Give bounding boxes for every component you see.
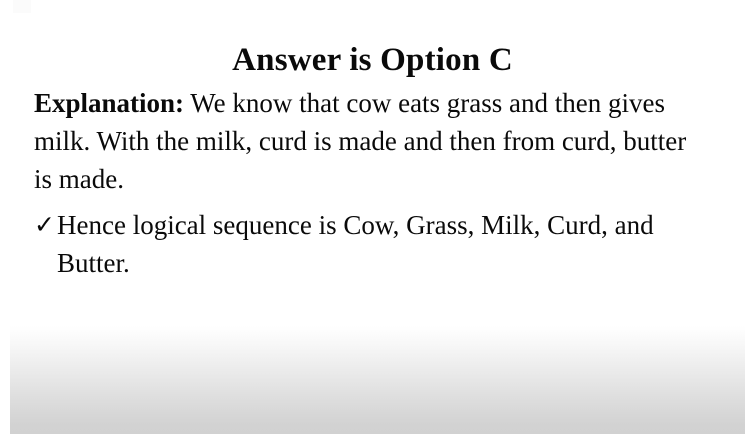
explanation-paragraph: Explanation: We know that cow eats grass… bbox=[34, 84, 694, 198]
list-item-label: Hence logical sequence is Cow, Grass, Mi… bbox=[57, 210, 654, 278]
explanation-label: Explanation: bbox=[34, 88, 184, 118]
conclusion-list: ✓Hence logical sequence is Cow, Grass, M… bbox=[34, 206, 694, 282]
scan-artifact-icon bbox=[13, 0, 31, 13]
check-icon: ✓ bbox=[34, 206, 55, 244]
explanation-block: Explanation: We know that cow eats grass… bbox=[34, 84, 694, 282]
slide-canvas: Answer is Option C Explanation: We know … bbox=[0, 0, 745, 434]
page-title: Answer is Option C bbox=[0, 40, 745, 80]
list-item: ✓Hence logical sequence is Cow, Grass, M… bbox=[34, 206, 694, 282]
footer-gradient-band bbox=[10, 326, 745, 434]
